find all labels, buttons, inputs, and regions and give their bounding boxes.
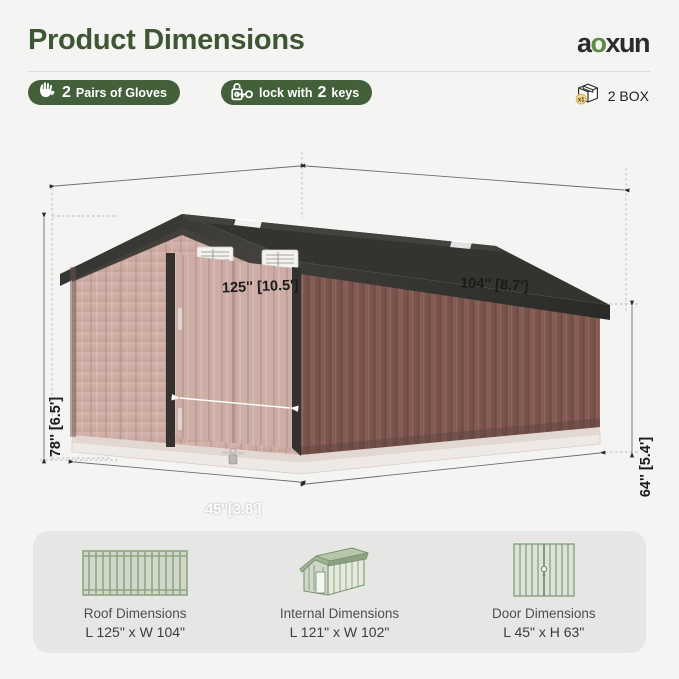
badge-box: x1 2 BOX xyxy=(574,81,649,110)
gloves-count: 2 xyxy=(62,84,71,102)
label-height-right: 64'' [5.4'] xyxy=(638,437,654,497)
badge-gloves[interactable]: 2 Pairs of Gloves xyxy=(28,80,180,105)
label-height-left: 78'' [6.5'] xyxy=(48,397,64,457)
box-label: 2 BOX xyxy=(608,88,649,104)
label-roof-length: 125'' [10.5'] xyxy=(222,278,299,297)
summary-value-internal: L 121" x W 102" xyxy=(290,624,390,640)
summary-value-door: L 45" x H 63" xyxy=(503,624,584,640)
shed-illustration xyxy=(0,122,679,522)
summary-cell-door: Door Dimensions L 45" x H 63" xyxy=(442,531,646,653)
logo-letter-o-green: o xyxy=(590,28,605,58)
corner-post-left xyxy=(70,267,76,437)
door-frame-left xyxy=(166,253,175,447)
roof-panel-icon xyxy=(79,541,191,599)
logo-letters-xun: xun xyxy=(605,28,649,58)
lock-label: keys xyxy=(331,86,359,100)
logo-letter-a: a xyxy=(577,28,591,58)
summary-value-roof: L 125" x W 104" xyxy=(85,624,185,640)
header-divider xyxy=(28,71,650,72)
shed-3d-door xyxy=(316,572,325,593)
shed-diagram: 125'' [10.5'] 104'' [8.7'] 78'' [6.5'] 6… xyxy=(0,122,679,522)
gloves-label: Pairs of Gloves xyxy=(76,86,167,100)
brand-logo: aoxun xyxy=(577,28,649,59)
box-icon: x1 xyxy=(574,81,602,110)
top-dimension-lines xyxy=(55,166,624,190)
gloves-icon xyxy=(37,82,57,103)
shed-3d-icon xyxy=(296,541,382,599)
page-title: Product Dimensions xyxy=(28,24,305,57)
summary-caption-internal: Internal Dimensions xyxy=(280,606,399,621)
summary-cell-roof: Roof Dimensions L 125" x W 104" xyxy=(33,531,237,653)
summary-caption-door: Door Dimensions xyxy=(492,606,596,621)
lock-key-count: 2 xyxy=(317,84,326,102)
summary-caption-roof: Roof Dimensions xyxy=(84,606,187,621)
badge-lock[interactable]: lock with 2 keys xyxy=(221,80,372,105)
summary-cell-internal: Internal Dimensions L 121" x W 102" xyxy=(237,531,441,653)
shed-body xyxy=(60,214,610,474)
door-hinge-bottom xyxy=(178,408,182,430)
label-door-width: 45''[3.8'] xyxy=(205,502,261,518)
summary-card: Roof Dimensions L 125" x W 104" xyxy=(33,531,646,653)
door-hinge-top xyxy=(178,308,182,330)
header: Product Dimensions aoxun 2 Pairs of Glov… xyxy=(0,0,679,122)
door-frame-right xyxy=(292,267,301,456)
lock-prefix: lock with xyxy=(259,86,312,100)
padlock-key-icon xyxy=(230,82,254,104)
double-door-icon xyxy=(511,541,577,599)
svg-text:x1: x1 xyxy=(578,97,585,103)
